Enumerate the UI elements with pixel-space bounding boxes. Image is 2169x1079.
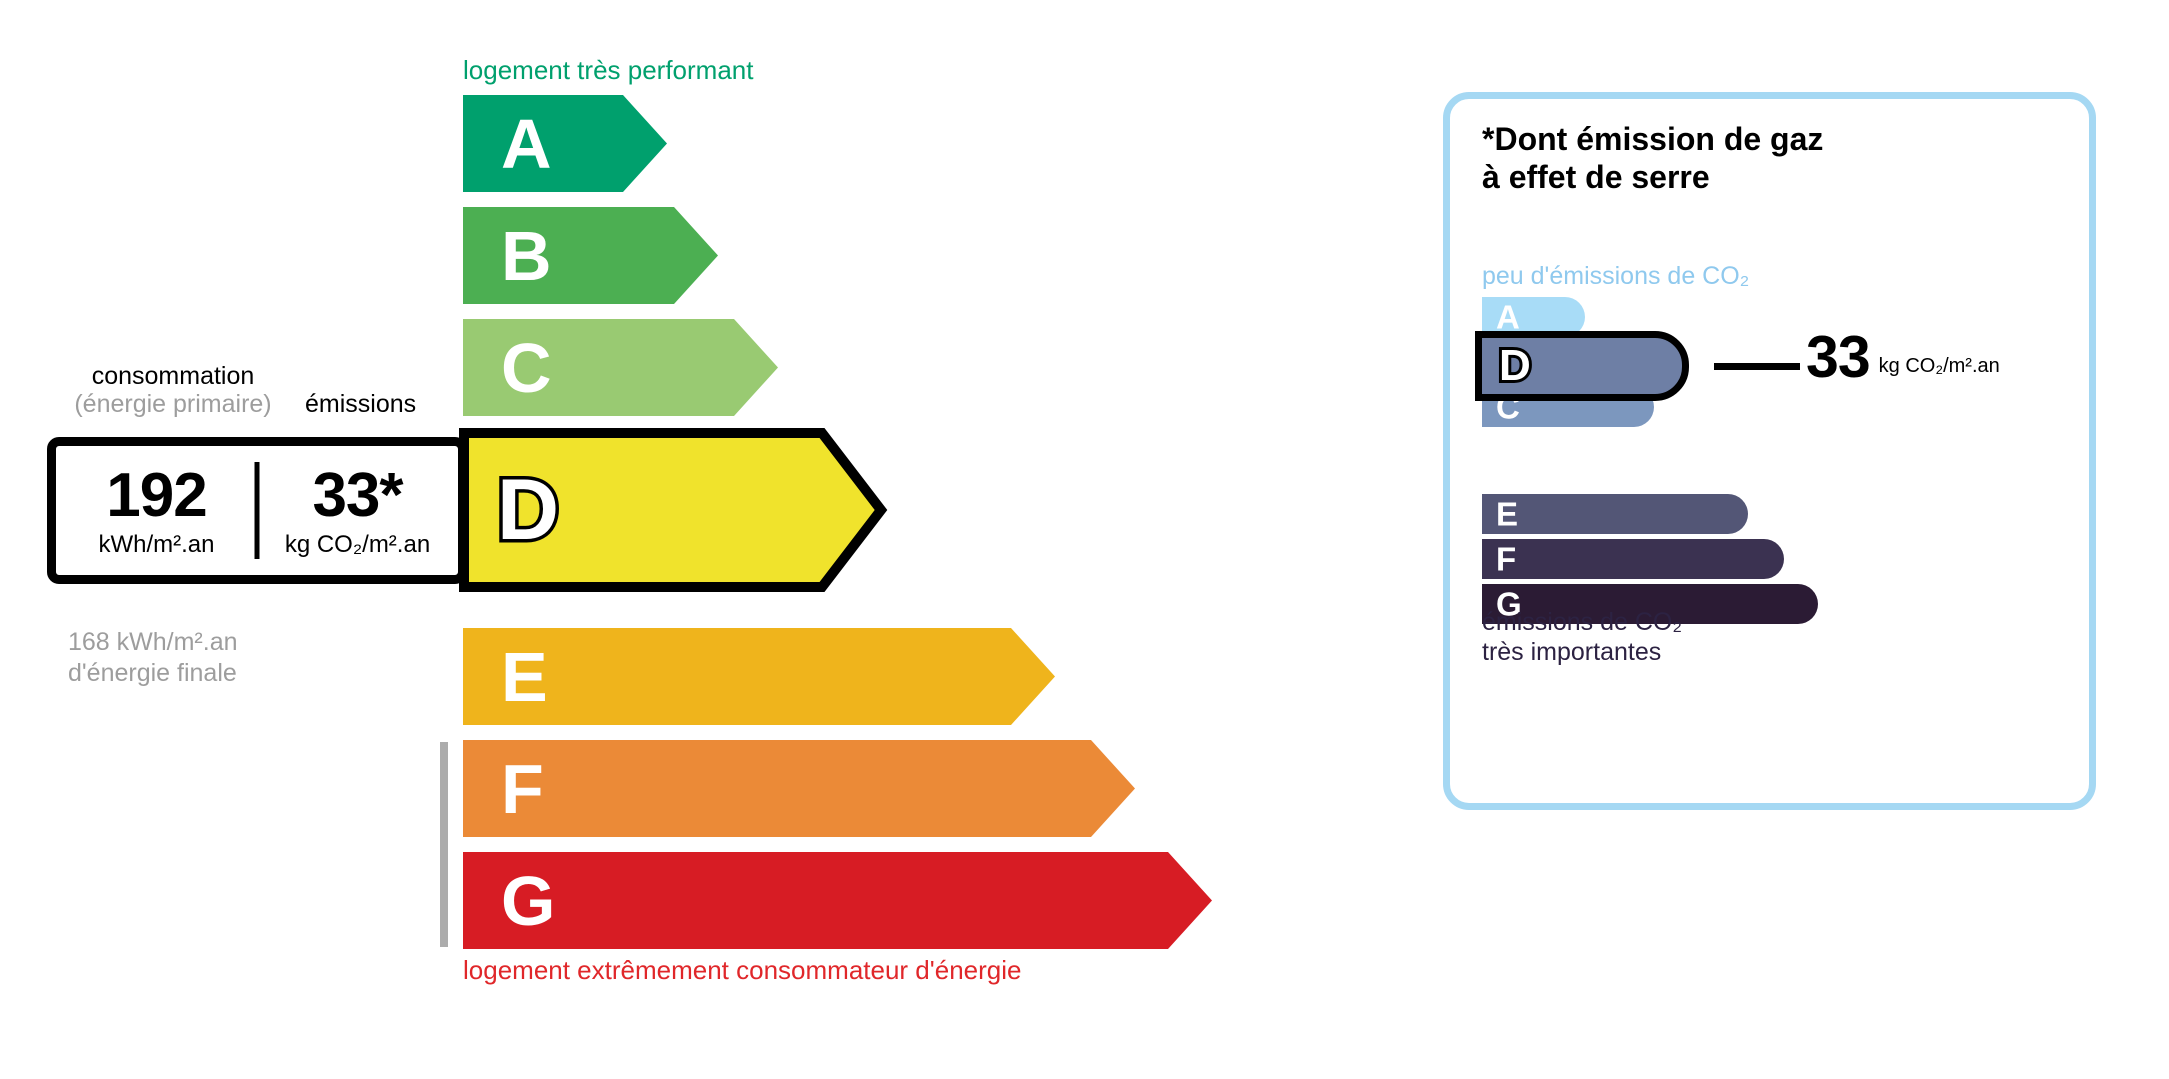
energy-band-a-letter: A	[501, 95, 552, 192]
consumption-label-main: consommation	[92, 362, 255, 390]
final-energy-label: 168 kWh/m².an d'énergie finale	[68, 627, 238, 688]
ges-bar-a-letter: A	[1496, 301, 1520, 334]
energy-band-a[interactable]: A	[463, 95, 667, 192]
energy-band-g-letter: G	[501, 852, 555, 949]
ges-bar-d-selected[interactable]: D	[1475, 331, 1689, 401]
emissions-label: émissions	[305, 390, 416, 418]
energy-consumption-value-cell: 192 kWh/m².an	[56, 446, 257, 575]
co2-emission-value-cell: 33* kg CO₂/m².an	[257, 446, 458, 575]
ges-value-unit: kg CO₂/m².an	[1879, 356, 2000, 385]
energy-consumption-unit: kWh/m².an	[98, 533, 214, 557]
ges-top-caption: peu d'émissions de CO₂	[1482, 262, 1749, 291]
energy-band-e[interactable]: E	[463, 628, 1055, 725]
energy-consumption-value: 192	[106, 465, 206, 527]
passoire-divider-line	[440, 742, 448, 947]
energy-band-b[interactable]: B	[463, 207, 718, 304]
ges-bar-e-letter: E	[1496, 498, 1518, 531]
value-box: 192 kWh/m².an 33* kg CO₂/m².an	[47, 437, 467, 584]
ges-value-callout: 33 kg CO₂/m².an	[1806, 329, 2000, 385]
energy-band-e-letter: E	[501, 628, 548, 725]
greenhouse-gas-panel: *Dont émission de gaz à effet de serre p…	[1443, 92, 2096, 810]
scale-top-caption: logement très performant	[463, 55, 753, 86]
consumption-label-sub: (énergie primaire)	[58, 390, 288, 418]
energy-band-g[interactable]: G	[463, 852, 1212, 949]
ges-bar-f[interactable]: F	[1482, 539, 1784, 579]
ges-value-number: 33	[1806, 329, 1870, 385]
consumption-label: consommation (énergie primaire)	[58, 362, 288, 418]
ges-bar-e[interactable]: E	[1482, 494, 1748, 534]
scale-bottom-caption: logement extrêmement consommateur d'éner…	[463, 955, 1021, 986]
ges-bar-f-letter: F	[1496, 543, 1516, 576]
energy-performance-scale: logement très performant A B C D E	[0, 0, 1400, 1079]
ges-bottom-caption: émissions de CO₂ très importantes	[1482, 607, 1682, 667]
energy-band-f-letter: F	[501, 740, 544, 837]
co2-emission-value: 33*	[312, 465, 402, 527]
energy-band-d-selected[interactable]: D	[459, 428, 886, 592]
ges-panel-title: *Dont émission de gaz à effet de serre	[1482, 121, 1823, 197]
co2-emission-unit: kg CO₂/m².an	[285, 533, 430, 557]
ges-bar-d-letter: D	[1499, 344, 1531, 388]
energy-band-c-letter: C	[501, 319, 552, 416]
ges-leader-line	[1714, 363, 1800, 370]
energy-band-c[interactable]: C	[463, 319, 778, 416]
energy-band-b-letter: B	[501, 207, 552, 304]
energy-band-f[interactable]: F	[463, 740, 1135, 837]
energy-band-d-letter: D	[497, 428, 559, 592]
